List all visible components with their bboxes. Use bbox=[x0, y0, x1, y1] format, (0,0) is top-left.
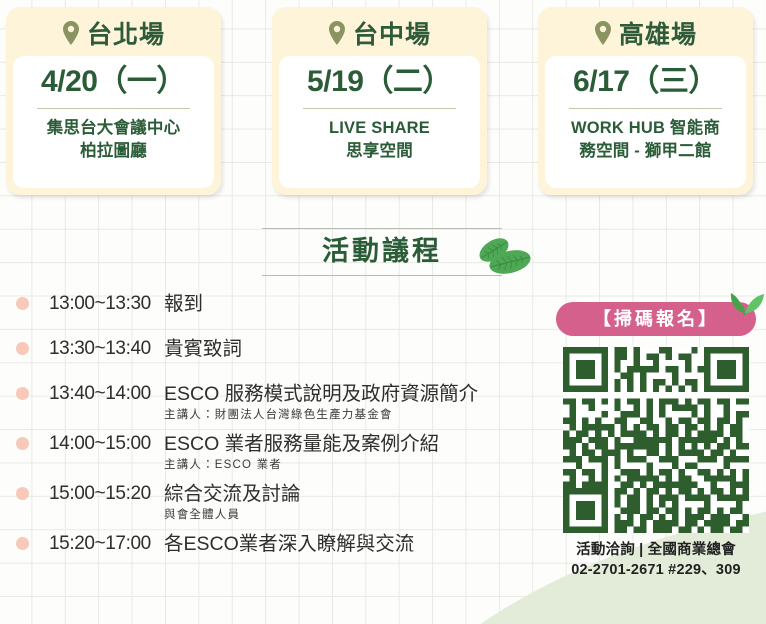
agenda-row: 15:00~15:20 綜合交流及討論 與會全體人員 bbox=[16, 480, 556, 523]
agenda-speaker: 主講人：財團法人台灣綠色生產力基金會 bbox=[164, 407, 556, 423]
contact-phone: 02-2701-2671 #229、309 bbox=[552, 560, 760, 580]
scan-to-register-badge[interactable]: 【掃碼報名】 bbox=[556, 302, 756, 336]
venue-card-taichung: 台中場 5/19（二） LIVE SHARE 思享空間 bbox=[272, 7, 487, 195]
registration-qr-panel: 【掃碼報名】 bbox=[552, 302, 760, 580]
venue-card-taipei: 台北場 4/20（一） 集思台大會議中心 柏拉圖廳 bbox=[6, 7, 221, 195]
agenda-title: 各ESCO業者深入瞭解與交流 bbox=[164, 533, 414, 555]
agenda-row: 15:20~17:00 各ESCO業者深入瞭解與交流 bbox=[16, 530, 556, 568]
scan-to-register-label: 【掃碼報名】 bbox=[593, 310, 719, 328]
venue-divider bbox=[37, 108, 189, 109]
venue-place-line-2: 思享空間 bbox=[346, 140, 413, 164]
venue-divider bbox=[303, 108, 455, 109]
agenda-row: 13:40~14:00 ESCO 服務模式說明及政府資源簡介 主講人：財團法人台… bbox=[16, 380, 556, 423]
location-pin-icon bbox=[594, 21, 612, 50]
venue-card-header: 台北場 bbox=[13, 14, 214, 56]
venue-card-body: 5/19（二） LIVE SHARE 思享空間 bbox=[279, 56, 480, 188]
agenda-bullet-icon bbox=[16, 487, 29, 500]
leaf-sprout-icon bbox=[722, 282, 766, 321]
leaf-pair-icon bbox=[472, 230, 534, 287]
agenda-heading-title: 活動議程 bbox=[262, 229, 502, 275]
agenda-heading-block: 活動議程 bbox=[262, 228, 502, 276]
agenda-bullet-icon bbox=[16, 537, 29, 550]
venue-city-label: 高雄場 bbox=[619, 23, 697, 48]
venue-card-header: 台中場 bbox=[279, 14, 480, 56]
venue-place-line-1: 集思台大會議中心 bbox=[47, 117, 181, 141]
location-pin-icon bbox=[328, 21, 346, 50]
venue-place-line-1: WORK HUB 智能商 bbox=[571, 117, 720, 141]
agenda-time: 15:20~17:00 bbox=[29, 530, 157, 558]
agenda-title: 報到 bbox=[164, 293, 203, 315]
agenda-list: 13:00~13:30 報到 13:30~13:40 貴賓致詞 13:40~14… bbox=[16, 290, 556, 575]
agenda-bullet-icon bbox=[16, 342, 29, 355]
venue-place-line-2: 柏拉圖廳 bbox=[80, 140, 147, 164]
agenda-time: 13:00~13:30 bbox=[29, 290, 157, 318]
venue-divider bbox=[569, 108, 721, 109]
contact-block: 活動洽詢 | 全國商業總會 02-2701-2671 #229、309 bbox=[552, 540, 760, 580]
agenda-bullet-icon bbox=[16, 387, 29, 400]
venue-place-line-1: LIVE SHARE bbox=[329, 117, 430, 141]
agenda-bullet-icon bbox=[16, 297, 29, 310]
agenda-speaker: 主講人：ESCO 業者 bbox=[164, 457, 556, 473]
agenda-bullet-icon bbox=[16, 437, 29, 450]
venue-date: 6/17（三） bbox=[573, 62, 718, 103]
agenda-speaker: 與會全體人員 bbox=[164, 507, 556, 523]
contact-organization: 活動洽詢 | 全國商業總會 bbox=[552, 540, 760, 560]
agenda-row: 13:30~13:40 貴賓致詞 bbox=[16, 335, 556, 373]
agenda-row: 14:00~15:00 ESCO 業者服務量能及案例介紹 主講人：ESCO 業者 bbox=[16, 430, 556, 473]
agenda-time: 15:00~15:20 bbox=[29, 480, 157, 508]
agenda-title: ESCO 服務模式說明及政府資源簡介 bbox=[164, 380, 556, 408]
venue-city-label: 台北場 bbox=[87, 23, 165, 48]
venue-card-body: 6/17（三） WORK HUB 智能商 務空間 - 獅甲二館 bbox=[545, 56, 746, 188]
venue-place-line-2: 務空間 - 獅甲二館 bbox=[579, 140, 711, 164]
agenda-title: 綜合交流及討論 bbox=[164, 480, 556, 508]
agenda-title: ESCO 業者服務量能及案例介紹 bbox=[164, 430, 556, 458]
agenda-time: 14:00~15:00 bbox=[29, 430, 157, 458]
venue-card-kaohsiung: 高雄場 6/17（三） WORK HUB 智能商 務空間 - 獅甲二館 bbox=[538, 7, 753, 195]
agenda-heading-rule-bottom bbox=[262, 275, 502, 276]
venue-city-label: 台中場 bbox=[353, 23, 431, 48]
location-pin-icon bbox=[62, 21, 80, 50]
venue-card-body: 4/20（一） 集思台大會議中心 柏拉圖廳 bbox=[13, 56, 214, 188]
agenda-row: 13:00~13:30 報到 bbox=[16, 290, 556, 328]
qr-code-image[interactable] bbox=[563, 347, 749, 533]
agenda-time: 13:30~13:40 bbox=[29, 335, 157, 363]
agenda-time: 13:40~14:00 bbox=[29, 380, 157, 408]
venue-card-header: 高雄場 bbox=[545, 14, 746, 56]
agenda-title: 貴賓致詞 bbox=[164, 338, 242, 360]
venue-date: 4/20（一） bbox=[41, 62, 186, 103]
venue-date: 5/19（二） bbox=[307, 62, 452, 103]
